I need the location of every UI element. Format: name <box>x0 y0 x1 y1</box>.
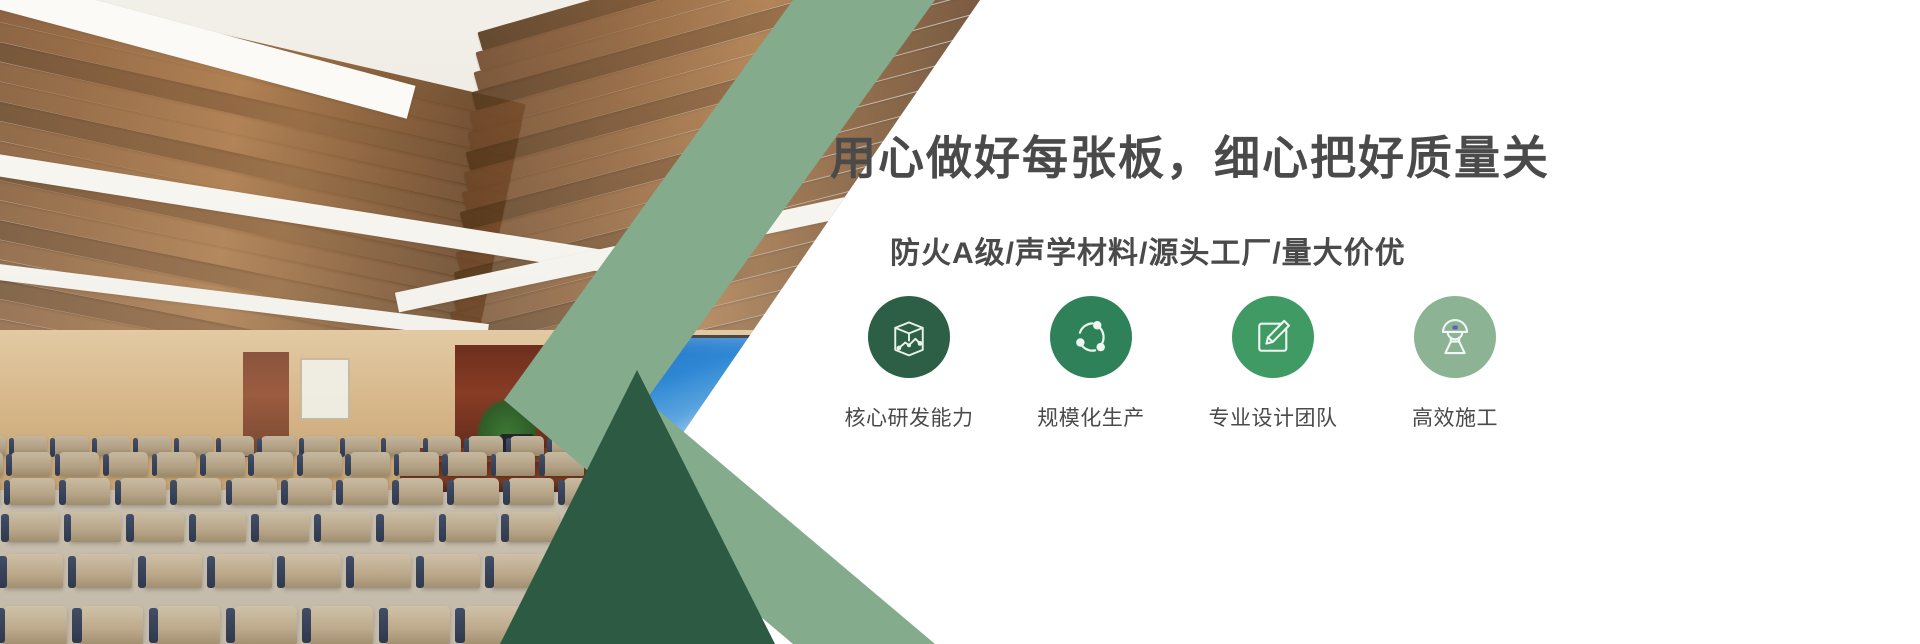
rnd-box-chart-icon <box>887 315 931 359</box>
feature-item-construction[interactable]: 高效施工 <box>1386 296 1524 432</box>
banner-content: 用心做好每张板，细心把好质量关 防火A级/声学材料/源头工厂/量大价优 核心研发… <box>830 0 1920 644</box>
feature-label-production: 规模化生产 <box>1037 402 1145 432</box>
banner-subtitle: 防火A级/声学材料/源头工厂/量大价优 <box>890 228 1406 272</box>
feature-label-construction: 高效施工 <box>1412 402 1498 432</box>
feature-icon-circle-construction <box>1414 296 1496 378</box>
network-nodes-icon <box>1069 315 1113 359</box>
feature-item-rnd[interactable]: 核心研发能力 <box>840 296 978 432</box>
pencil-edit-icon <box>1251 315 1295 359</box>
feature-icon-circle-design <box>1232 296 1314 378</box>
feature-icon-circle-rnd <box>868 296 950 378</box>
page-title: 用心做好每张板，细心把好质量关 <box>830 122 1830 188</box>
feature-list: 核心研发能力 规模化生产 <box>840 296 1524 432</box>
feature-label-rnd: 核心研发能力 <box>845 402 974 432</box>
promo-banner: 用心做好每张板，细心把好质量关 防火A级/声学材料/源头工厂/量大价优 核心研发… <box>0 0 1920 644</box>
hardhat-worker-icon <box>1433 315 1477 359</box>
feature-label-design: 专业设计团队 <box>1209 402 1338 432</box>
feature-item-production[interactable]: 规模化生产 <box>1022 296 1160 432</box>
feature-icon-circle-production <box>1050 296 1132 378</box>
feature-item-design[interactable]: 专业设计团队 <box>1204 296 1342 432</box>
